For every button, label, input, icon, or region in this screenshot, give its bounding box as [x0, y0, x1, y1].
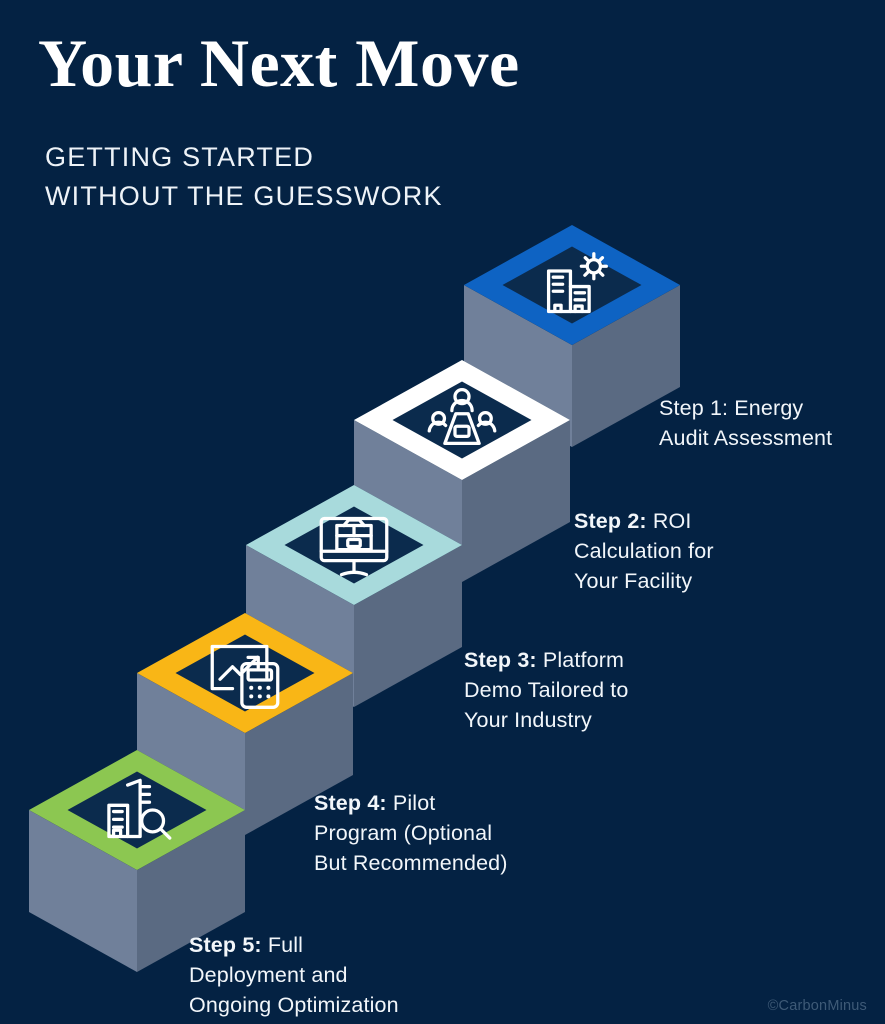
step-3-number: Step 3: [464, 648, 537, 672]
infographic-canvas: Your Next Move GETTING STARTED WITHOUT T… [0, 0, 885, 1024]
step-label-1: Step 1: Energy Audit Assessment [659, 363, 832, 453]
step-2-number: Step 2: [574, 509, 647, 533]
watermark: ©CarbonMinus [768, 998, 867, 1014]
step-5-number: Step 5: [189, 933, 262, 957]
step-4-number: Step 4: [314, 791, 387, 815]
step-1-number: Step 1: [659, 396, 728, 420]
step-label-3: Step 3: Platform Demo Tailored to Your I… [464, 615, 629, 735]
step-label-2: Step 2: ROI Calculation for Your Facilit… [574, 476, 714, 596]
step-label-5: Step 5: Full Deployment and Ongoing Opti… [189, 900, 399, 1020]
step-label-4: Step 4: Pilot Program (Optional But Reco… [314, 758, 508, 878]
